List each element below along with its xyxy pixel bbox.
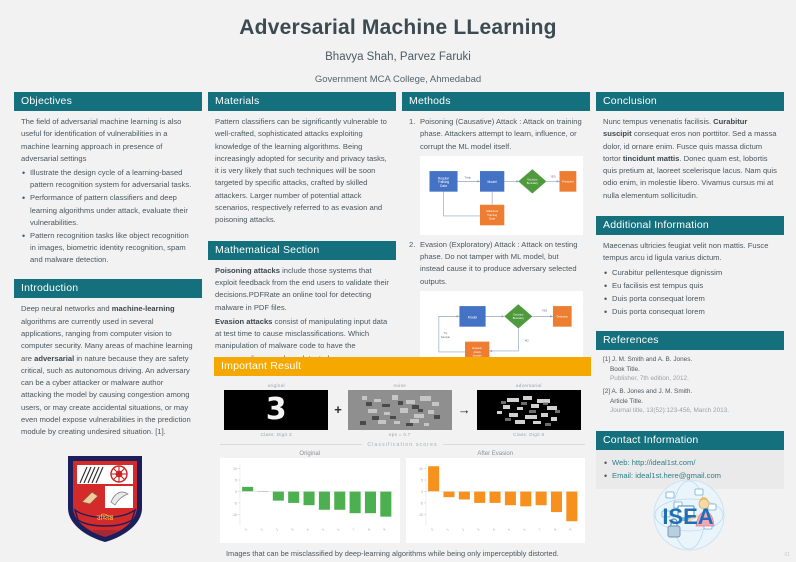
list-item: Duis porta consequat lorem	[603, 293, 777, 305]
panel-conclusion: Conclusion Nunc tempus venenatis facilis…	[596, 92, 784, 208]
panel-materials: Materials Pattern classifiers can be sig…	[208, 92, 396, 233]
svg-text:-5: -5	[419, 501, 422, 505]
svg-text:Detection: Detection	[557, 314, 569, 318]
mnist-original-image: 3	[224, 390, 328, 430]
svg-text:6: 6	[336, 527, 340, 531]
chart-original-title: Original	[220, 451, 400, 457]
divider-line-right	[443, 444, 585, 445]
mnist-noise-caption: noise	[348, 383, 452, 388]
mnist-original-class: Class: Digit 3	[224, 432, 328, 437]
panel-references-heading: References	[596, 331, 784, 350]
page-title: Adversarial Machine LLearning	[0, 16, 796, 39]
svg-text:0: 0	[244, 527, 248, 531]
svg-text:Data: Data	[489, 217, 495, 221]
panel-additional-body: Maecenas ultricies feugiat velit non mat…	[596, 235, 784, 323]
panel-introduction-heading: Introduction	[14, 279, 202, 298]
svg-text:4: 4	[491, 527, 495, 531]
additional-text: Maecenas ultricies feugiat velit non mat…	[603, 240, 777, 265]
svg-text:3: 3	[476, 527, 480, 531]
reference-authors: J. M. Smith and A. B. Jones.	[612, 356, 692, 363]
svg-text:Try: Try	[443, 331, 447, 335]
panel-introduction-body: Deep neural networks and machine-learnin…	[14, 298, 202, 444]
chart-original: Original score 1050-5-100123456789	[220, 451, 400, 544]
panel-conclusion-body: Nunc tempus venenatis facilisis. Curabit…	[596, 111, 784, 208]
svg-text:9: 9	[382, 527, 386, 531]
svg-text:5: 5	[507, 527, 511, 531]
divider-line-left	[220, 444, 362, 445]
noise-pattern-svg	[348, 390, 452, 430]
mnist-noise-image	[348, 390, 452, 430]
poster-canvas: Adversarial Machine LLearning Bhavya Sha…	[0, 0, 796, 562]
reference-entry: [2] A. B. Jones and J. M. Smith. Article…	[603, 387, 777, 416]
chart-evasion-plot: 1050-5-100123456789	[406, 458, 586, 544]
panel-contact-heading: Contact Information	[596, 431, 784, 450]
method-2-text: Evasion (Exploratory) Attack : Attack on…	[420, 240, 577, 286]
conclusion-text: Nunc tempus venenatis facilisis. Curabit…	[603, 116, 777, 202]
svg-text:10: 10	[233, 467, 237, 471]
poisoning-attack-diagram: Regular Training Data Train Model	[420, 156, 583, 235]
adversarial-pattern-svg	[477, 390, 581, 430]
mnist-panel-noise: noise	[348, 383, 452, 437]
panel-additional-information: Additional Information Maecenas ultricie…	[596, 216, 784, 323]
list-item: Curabitur pellentesque dignissim	[603, 267, 777, 279]
svg-text:YES: YES	[542, 309, 548, 313]
intro-part1: Deep neural networks and	[21, 304, 112, 313]
svg-text:2: 2	[275, 527, 279, 531]
svg-text:7: 7	[352, 527, 356, 531]
chart-evasion-title: After Evasion	[406, 451, 586, 457]
panel-methods-body: Poisoning (Causative) Attack : Attack on…	[402, 111, 590, 380]
university-crest-logo: उथ्तिष्ठ	[62, 450, 148, 546]
svg-text:Predicted: Predicted	[562, 179, 574, 183]
panel-references-body: [1] J. M. Smith and A. B. Jones. Book Ti…	[596, 350, 784, 423]
svg-text:Decision: Decision	[513, 312, 524, 316]
panel-mathematical-body: Poisoning attacks include those systems …	[208, 260, 396, 371]
classification-scores-label: Classification scores	[367, 442, 437, 448]
svg-text:5: 5	[235, 478, 237, 482]
svg-text:3: 3	[290, 527, 294, 531]
svg-text:Boundary: Boundary	[513, 316, 525, 320]
list-item: Eu facilisis est tempus quis	[603, 280, 777, 292]
intro-bold1: machine-learning	[112, 304, 175, 313]
isea-wordmark: ISEA	[662, 504, 713, 529]
page-number: 01	[784, 552, 790, 558]
reference-title: Book Title.	[603, 365, 777, 375]
poisoning-label: Poisoning attacks	[215, 266, 280, 275]
method-1-text: Poisoning (Causative) Attack : Attack on…	[420, 117, 582, 151]
svg-text:0: 0	[235, 490, 237, 494]
chart-after-evasion: After Evasion score 1050-5-100123456789	[406, 451, 586, 544]
mnist-adversarial-class: Class: Digit 8	[477, 432, 581, 437]
svg-text:2: 2	[460, 527, 464, 531]
panel-methods-heading: Methods	[402, 92, 590, 111]
mnist-panel-original: original 3 Class: Digit 3	[224, 383, 328, 437]
crest-svg: उथ्तिष्ठ	[62, 450, 148, 546]
list-item: Pattern recognition tasks like object re…	[21, 230, 195, 266]
panel-important-result: Important Result original 3 Class: Digit…	[214, 357, 591, 562]
svg-text:10: 10	[419, 467, 423, 471]
svg-text:8: 8	[553, 527, 557, 531]
panel-important-result-heading: Important Result	[214, 357, 591, 376]
list-item: Poisoning (Causative) Attack : Attack on…	[409, 116, 583, 235]
svg-text:8: 8	[367, 527, 371, 531]
panel-introduction: Introduction Deep neural networks and ma…	[14, 279, 202, 444]
list-item: Performance of pattern classifiers and d…	[21, 192, 195, 228]
panel-mathematical-heading: Mathematical Section	[208, 241, 396, 260]
reference-meta: Publisher, 7th edition, 2012.	[603, 374, 777, 384]
poisoning-diagram-svg: Regular Training Data Train Model	[422, 158, 581, 233]
panel-objectives-body: The field of adversarial machine learnin…	[14, 111, 202, 271]
arrow-right-icon: →	[458, 402, 471, 417]
svg-text:9: 9	[568, 527, 572, 531]
svg-text:Model: Model	[488, 180, 497, 184]
mnist-noise-epsilon: eps = 0.7	[348, 432, 452, 437]
mnist-adversarial-image	[477, 390, 581, 430]
mnist-original-caption: original	[224, 383, 328, 388]
list-item: Duis porta consequat lorem	[603, 306, 777, 318]
isea-logo-svg: ISEA	[652, 478, 726, 552]
svg-text:0: 0	[430, 527, 434, 531]
objectives-intro: The field of adversarial machine learnin…	[21, 116, 195, 165]
panel-materials-body: Pattern classifiers can be significantly…	[208, 111, 396, 233]
introduction-text: Deep neural networks and machine-learnin…	[21, 303, 195, 438]
svg-text:7: 7	[537, 527, 541, 531]
plus-operator-icon: +	[334, 402, 342, 417]
reference-entry: [1] J. M. Smith and A. B. Jones. Book Ti…	[603, 355, 777, 384]
list-item: Evasion (Exploratory) Attack : Attack on…	[409, 239, 583, 372]
panel-objectives: Objectives The field of adversarial mach…	[14, 92, 202, 271]
adversarial-example-figure: original 3 Class: Digit 3 + noise	[220, 383, 585, 437]
panel-objectives-heading: Objectives	[14, 92, 202, 111]
intro-part3: in nature because they are safety critic…	[21, 354, 191, 437]
reference-meta: Journal title, 13(52):123-456, March 201…	[603, 406, 777, 416]
important-result-caption: Images that can be misclassified by deep…	[220, 543, 585, 562]
svg-text:Boundary: Boundary	[527, 181, 539, 185]
svg-text:YES: YES	[550, 175, 556, 179]
digit-glyph-3: 3	[266, 395, 287, 425]
svg-text:5: 5	[321, 527, 325, 531]
svg-text:Train: Train	[464, 175, 471, 179]
panel-references: References [1] J. M. Smith and A. B. Jon…	[596, 331, 784, 423]
poster-header: Adversarial Machine LLearning Bhavya Sha…	[0, 0, 796, 85]
conclusion-bold2: tincidunt mattis	[623, 154, 680, 163]
objectives-bullet-list: Illustrate the design cycle of a learnin…	[21, 167, 195, 266]
isea-logo: ISEA	[652, 478, 726, 552]
svg-text:1: 1	[445, 527, 449, 531]
svg-text:Attack: Attack	[473, 350, 481, 354]
svg-text:Data: Data	[440, 184, 447, 188]
panel-additional-heading: Additional Information	[596, 216, 784, 235]
poisoning-paragraph: Poisoning attacks include those systems …	[215, 265, 389, 314]
svg-text:5: 5	[421, 478, 423, 482]
svg-text:Evasion: Evasion	[472, 346, 482, 350]
chart-original-svg: 1050-5-100123456789	[220, 458, 400, 544]
svg-text:0: 0	[421, 490, 423, 494]
svg-text:NO: NO	[525, 339, 529, 343]
chart-evasion-svg: 1050-5-100123456789	[406, 458, 586, 544]
panel-mathematical-section: Mathematical Section Poisoning attacks i…	[208, 241, 396, 371]
methods-list: Poisoning (Causative) Attack : Attack on…	[409, 116, 583, 372]
svg-text:-10: -10	[418, 512, 423, 516]
svg-text:1: 1	[260, 527, 264, 531]
contact-web-link[interactable]: Web: http://ideal1st.com/	[603, 457, 777, 469]
list-item: Illustrate the design cycle of a learnin…	[21, 167, 195, 191]
affiliation: Government MCA College, Ahmedabad	[0, 74, 796, 85]
evasion-label: Evasion attacks	[215, 317, 272, 326]
reference-index: [1]	[603, 356, 610, 363]
reference-title: Article Title.	[603, 397, 777, 407]
intro-bold2: adversarial	[34, 354, 74, 363]
svg-text:Decision: Decision	[527, 177, 538, 181]
panel-materials-heading: Materials	[208, 92, 396, 111]
materials-text: Pattern classifiers can be significantly…	[215, 116, 389, 227]
svg-text:-5: -5	[234, 501, 237, 505]
reference-index: [2]	[603, 388, 610, 395]
chart-original-plot: 1050-5-100123456789	[220, 458, 400, 544]
svg-text:4: 4	[306, 527, 310, 531]
svg-text:-10: -10	[232, 512, 237, 516]
panel-conclusion-heading: Conclusion	[596, 92, 784, 111]
additional-bullet-list: Curabitur pellentesque dignissim Eu faci…	[603, 267, 777, 319]
reference-authors: A. B. Jones and J. M. Smith.	[612, 388, 693, 395]
classification-score-charts: Original score 1050-5-100123456789 After…	[220, 451, 585, 544]
svg-text:Sample: Sample	[441, 335, 451, 339]
svg-text:Model: Model	[468, 315, 477, 319]
mnist-panel-adversarial: adversarial	[477, 383, 581, 437]
mnist-adversarial-caption: adversarial	[477, 383, 581, 388]
author-list: Bhavya Shah, Parvez Faruki	[0, 51, 796, 63]
classification-scores-divider: Classification scores	[220, 442, 585, 448]
svg-text:उथ्तिष्ठ: उथ्तिष्ठ	[97, 513, 114, 522]
panel-important-result-body: original 3 Class: Digit 3 + noise	[214, 376, 591, 562]
panel-methods: Methods Poisoning (Causative) Attack : A…	[402, 92, 590, 380]
conclusion-part1: Nunc tempus venenatis facilisis.	[603, 117, 713, 126]
svg-text:6: 6	[522, 527, 526, 531]
